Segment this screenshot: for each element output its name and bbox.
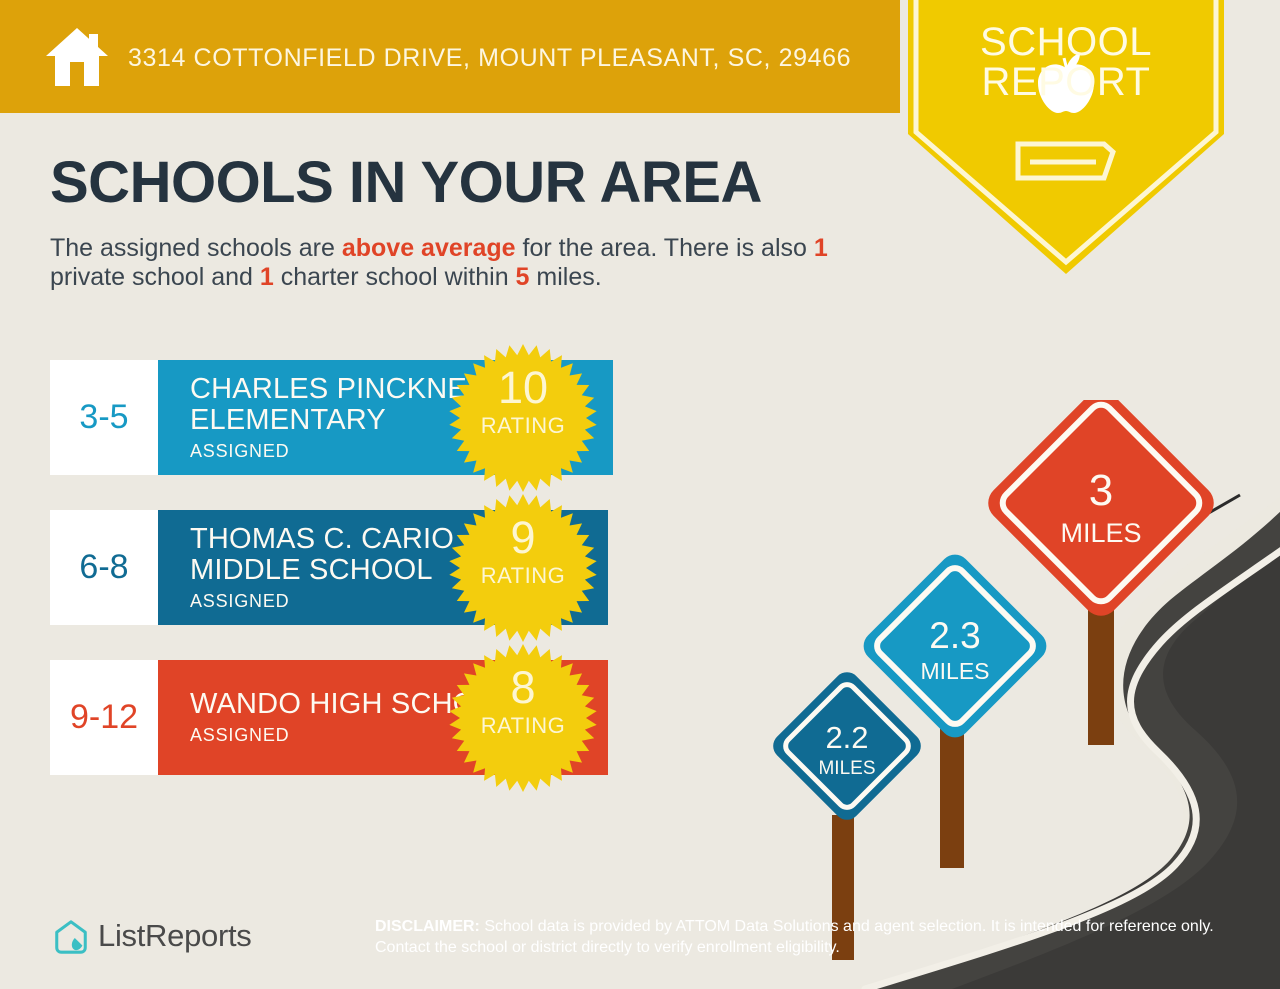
banner-title: SCHOOL REPORT — [908, 22, 1224, 102]
summary-highlight-charter-count: 1 — [260, 263, 274, 291]
banner-title-line1: SCHOOL — [908, 22, 1224, 62]
summary-part4: charter school within — [274, 263, 516, 291]
summary-part1: The assigned schools are — [50, 234, 342, 262]
summary-highlight-private-count: 1 — [814, 234, 828, 262]
road-signs-illustration: 3 MILES 2.3 MILES 2.2 MILES — [770, 400, 1280, 989]
disclaimer-label: DISCLAIMER: — [375, 918, 480, 935]
sign-value-2: 2.3 — [929, 615, 980, 656]
rating-label: RATING — [448, 413, 598, 439]
sign-unit-2: MILES — [920, 658, 989, 684]
grade-range-box: 9-12 — [50, 660, 158, 775]
sign-post — [1088, 605, 1114, 745]
rating-badge: 10 RATING — [448, 343, 598, 493]
rating-value: 10 — [448, 365, 598, 410]
home-icon — [44, 26, 110, 88]
house-tag-icon — [52, 918, 90, 956]
grade-range-label: 6-8 — [79, 548, 128, 587]
summary-highlight-radius: 5 — [516, 263, 530, 291]
summary-part2: for the area. There is also — [516, 234, 814, 262]
road-scene: 3 MILES 2.3 MILES 2.2 MILES — [770, 400, 1280, 989]
rating-value: 8 — [448, 665, 598, 710]
grade-range-box: 3-5 — [50, 360, 158, 475]
property-address: 3314 COTTONFIELD DRIVE, MOUNT PLEASANT, … — [128, 44, 851, 73]
school-list: 3-5 CHARLES PINCKNEY ELEMENTARY ASSIGNED… — [50, 360, 710, 810]
school-row[interactable]: 6-8 THOMAS C. CARIO MIDDLE SCHOOL ASSIGN… — [50, 510, 710, 625]
rating-value: 9 — [448, 515, 598, 560]
sign-unit-1: MILES — [818, 758, 875, 779]
rating-badge: 9 RATING — [448, 493, 598, 643]
school-row[interactable]: 3-5 CHARLES PINCKNEY ELEMENTARY ASSIGNED… — [50, 360, 710, 475]
disclaimer-body: School data is provided by ATTOM Data So… — [375, 918, 1214, 956]
rating-label: RATING — [448, 713, 598, 739]
summary-part5: miles. — [529, 263, 601, 291]
sign-value-3: 3 — [1089, 466, 1113, 515]
grade-range-box: 6-8 — [50, 510, 158, 625]
summary-highlight-rating: above average — [342, 234, 516, 262]
rating-label: RATING — [448, 563, 598, 589]
grade-range-label: 3-5 — [79, 398, 128, 437]
page-title: SCHOOLS IN YOUR AREA — [50, 152, 762, 214]
sign-post — [940, 718, 964, 868]
school-report-banner: SCHOOL REPORT — [908, 0, 1224, 276]
summary-text: The assigned schools are above average f… — [50, 234, 880, 292]
infographic-canvas: 3314 COTTONFIELD DRIVE, MOUNT PLEASANT, … — [0, 0, 1280, 989]
rating-badge: 8 RATING — [448, 643, 598, 793]
banner-title-line2: REPORT — [908, 62, 1224, 102]
disclaimer: DISCLAIMER: School data is provided by A… — [375, 916, 1215, 958]
sign-value-1: 2.2 — [825, 720, 868, 755]
school-row[interactable]: 9-12 WANDO HIGH SCHOOL ASSIGNED 8 RATING — [50, 660, 710, 775]
logo-wordmark: ListReports — [98, 918, 252, 954]
sign-unit-3: MILES — [1060, 518, 1141, 548]
listreports-logo[interactable]: ListReports — [52, 916, 312, 960]
grade-range-label: 9-12 — [70, 698, 138, 737]
summary-part3: private school and — [50, 263, 260, 291]
